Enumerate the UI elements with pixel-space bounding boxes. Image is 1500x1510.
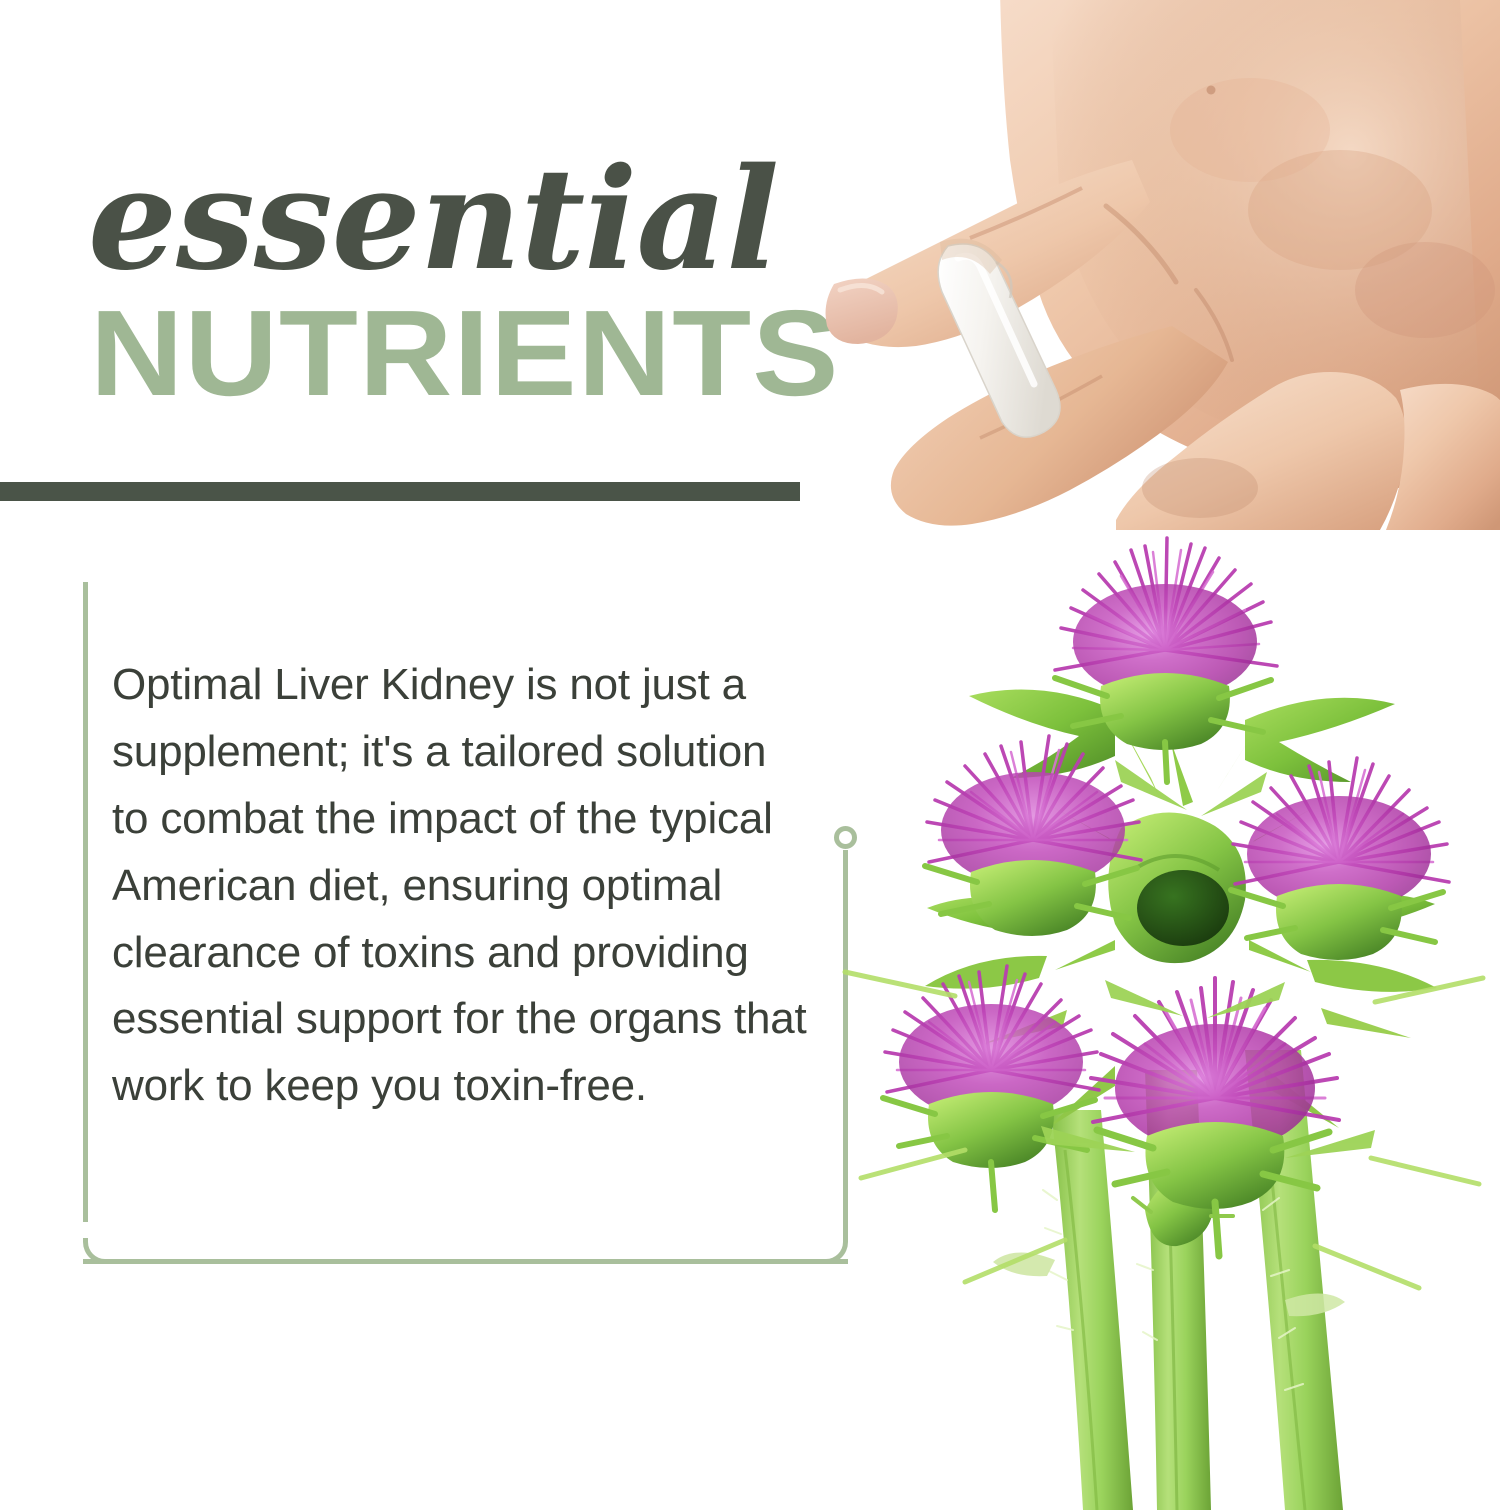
milk-thistle-image <box>815 510 1500 1510</box>
knuckle-shadow-2 <box>1355 242 1495 338</box>
callout-body-text: Optimal Liver Kidney is not just a suppl… <box>112 652 812 1120</box>
frame-bottom-rule <box>83 1259 848 1264</box>
product-banner: essential NUTRIENTS Optimal Liver Kidney… <box>0 0 1500 1500</box>
page-title-bold: NUTRIENTS <box>90 292 840 414</box>
frame-corner-bottom-left <box>83 1238 109 1264</box>
dark-bud <box>1137 870 1229 946</box>
page-title-script: essential <box>88 150 778 290</box>
skin-freckle <box>1207 86 1216 95</box>
thistle-flower-mid-right <box>1231 758 1449 960</box>
hand-holding-capsule-image <box>820 0 1500 530</box>
middle-finger-tip-shadow <box>1142 458 1258 518</box>
frame-left-rule <box>83 582 88 1222</box>
knuckle-shadow-3 <box>1170 78 1330 182</box>
title-divider <box>0 482 800 501</box>
